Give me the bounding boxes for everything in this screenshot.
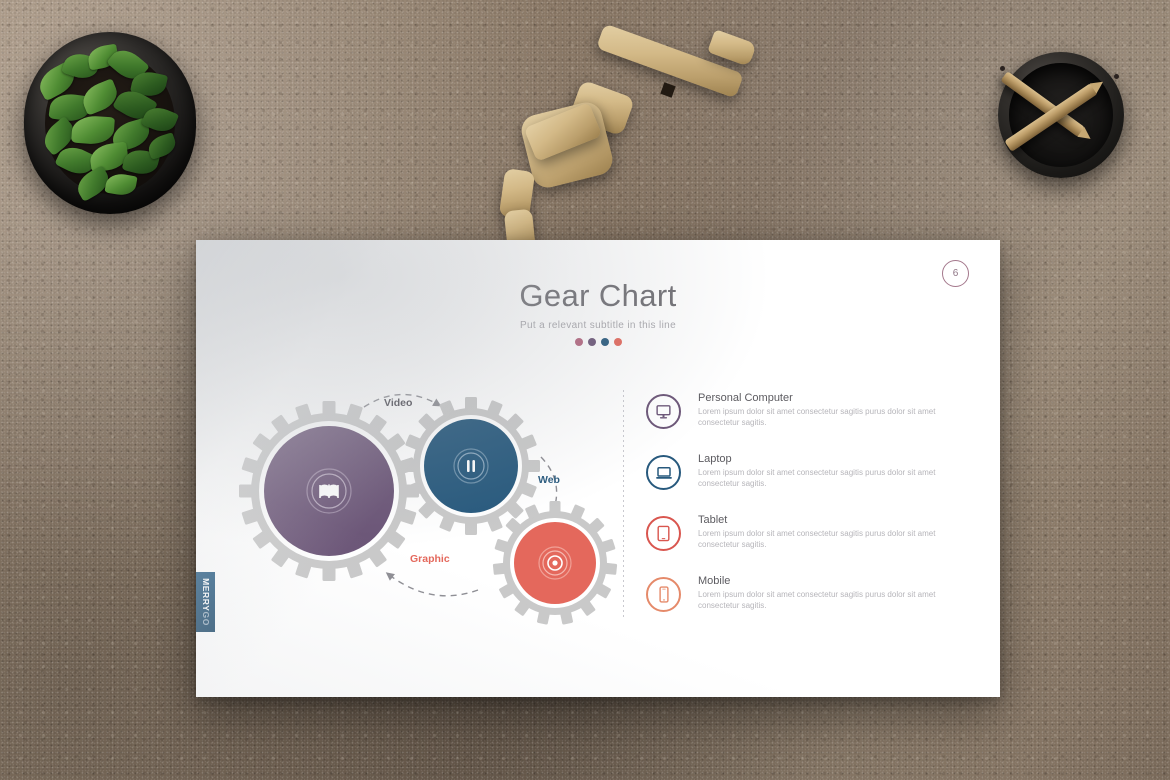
brand-tab[interactable]: MERRYGO	[196, 572, 215, 632]
tablet-icon	[646, 516, 681, 551]
mannequin-upper-forearm	[707, 29, 757, 67]
scene: MERRYGO 6 Gear Chart Put a relevant subt…	[0, 0, 1170, 780]
gear-web-hub	[424, 419, 518, 513]
page-subtitle: Put a relevant subtitle in this line	[196, 320, 1000, 331]
feature-title: Personal Computer	[698, 392, 966, 404]
gear-label-graphic: Graphic	[410, 553, 450, 565]
feature-item[interactable]: MobileLorem ipsum dolor sit amet consect…	[646, 575, 966, 636]
gear-diagram: Video Web Graphic	[236, 375, 626, 635]
presentation-slide[interactable]: MERRYGO 6 Gear Chart Put a relevant subt…	[196, 240, 1000, 697]
accent-dot-4	[614, 338, 622, 346]
feature-description: Lorem ipsum dolor sit amet consectetur s…	[698, 528, 960, 551]
feature-description: Lorem ipsum dolor sit amet consectetur s…	[698, 467, 960, 490]
title-block: Gear Chart Put a relevant subtitle in th…	[196, 278, 1000, 346]
mobile-icon	[646, 577, 681, 612]
accent-dot-3	[601, 338, 609, 346]
mannequin-joint-slot	[660, 82, 675, 97]
brand-secondary: GO	[201, 611, 211, 625]
gear-label-web: Web	[538, 474, 560, 486]
connector-graphic	[388, 574, 478, 596]
laptop-icon	[646, 455, 681, 490]
wooden-mannequin-arm	[492, 30, 762, 275]
feature-title: Mobile	[698, 575, 966, 587]
monitor-icon	[646, 394, 681, 429]
accent-dots	[196, 338, 1000, 346]
gear-graphic[interactable]	[493, 501, 617, 625]
feature-item[interactable]: Personal ComputerLorem ipsum dolor sit a…	[646, 392, 966, 453]
feature-description: Lorem ipsum dolor sit amet consectetur s…	[698, 589, 960, 612]
gear-video[interactable]	[239, 401, 419, 581]
feature-item[interactable]: LaptopLorem ipsum dolor sit amet consect…	[646, 453, 966, 514]
pencil-bowl	[998, 52, 1124, 178]
gear-diagram-svg	[236, 375, 626, 635]
accent-dot-1	[575, 338, 583, 346]
feature-description: Lorem ipsum dolor sit amet consectetur s…	[698, 406, 960, 429]
section-divider	[623, 390, 624, 618]
gear-web[interactable]	[402, 397, 540, 535]
brand-primary: MERRY	[201, 578, 211, 611]
brand-tab-text: MERRYGO	[201, 578, 211, 626]
feature-list: Personal ComputerLorem ipsum dolor sit a…	[646, 392, 966, 636]
potted-plant	[24, 32, 196, 214]
feature-item[interactable]: TabletLorem ipsum dolor sit amet consect…	[646, 514, 966, 575]
accent-dot-2	[588, 338, 596, 346]
page-title: Gear Chart	[196, 278, 1000, 314]
gear-label-video: Video	[384, 397, 412, 409]
feature-title: Tablet	[698, 514, 966, 526]
feature-title: Laptop	[698, 453, 966, 465]
